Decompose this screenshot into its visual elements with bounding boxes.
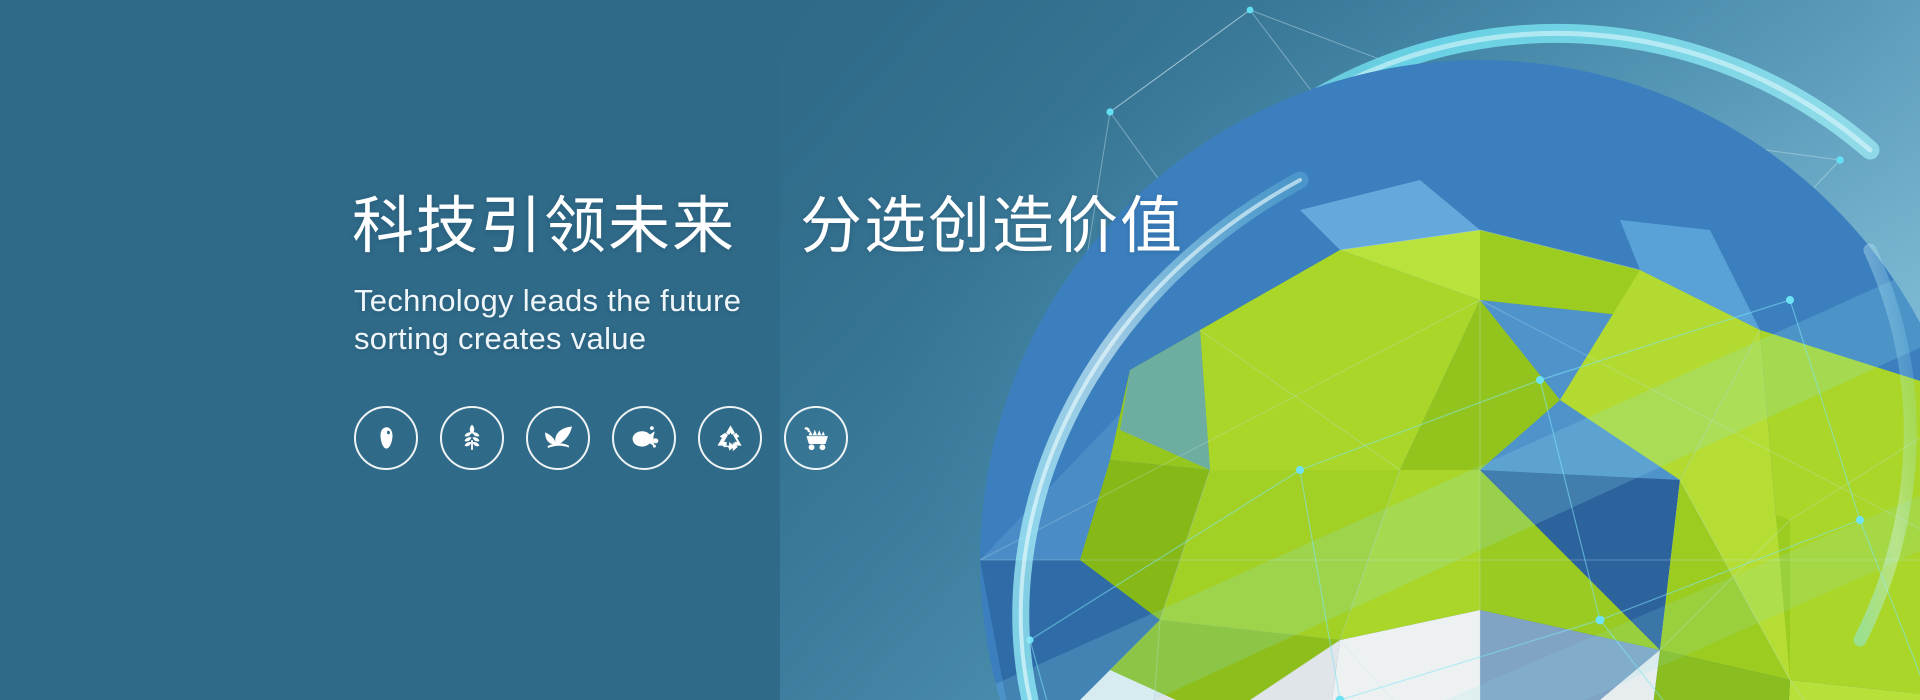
industry-icon-mining-cart[interactable]: [784, 406, 848, 470]
page-subtitle: Technology leads the future sorting crea…: [354, 282, 741, 358]
industry-icon-wheat[interactable]: [440, 406, 504, 470]
industry-icon-leaf[interactable]: [526, 406, 590, 470]
fish-icon: [628, 422, 661, 455]
industry-icon-seed[interactable]: [354, 406, 418, 470]
page-title: 科技引领未来 分选创造价值: [352, 196, 1184, 258]
industry-icon-fish[interactable]: [612, 406, 676, 470]
hero-banner: 科技引领未来 分选创造价值 Technology leads the futur…: [0, 0, 1920, 700]
seed-icon: [371, 423, 401, 453]
leaf-icon: [542, 422, 575, 455]
mining-cart-icon: [800, 422, 833, 455]
recycle-icon: [715, 423, 746, 454]
wheat-icon: [456, 422, 488, 454]
banner-content: 科技引领未来 分选创造价值 Technology leads the futur…: [352, 0, 1252, 700]
industry-icon-recycle[interactable]: [698, 406, 762, 470]
industry-icon-row: [354, 406, 848, 470]
